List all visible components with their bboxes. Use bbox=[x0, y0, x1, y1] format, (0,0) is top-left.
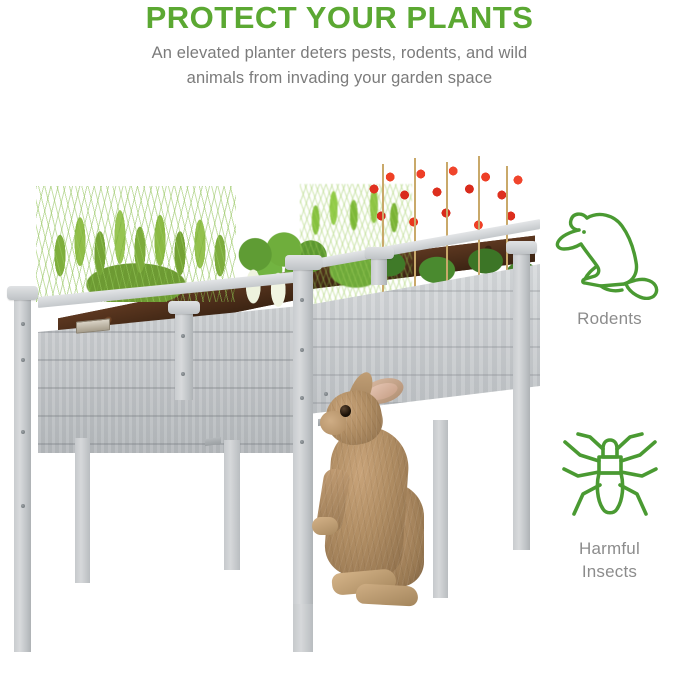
screw bbox=[21, 430, 25, 434]
subtitle-line-2: animals from invading your garden space bbox=[0, 66, 679, 91]
feature-label-rodents: Rodents bbox=[540, 307, 679, 330]
screw bbox=[21, 358, 25, 362]
corner-post bbox=[513, 250, 530, 550]
page-title: PROTECT YOUR PLANTS bbox=[0, 0, 679, 35]
post-cap bbox=[506, 241, 537, 254]
screw bbox=[300, 298, 304, 302]
garden-stake bbox=[446, 162, 448, 288]
garden-stake bbox=[414, 158, 416, 290]
post-cap bbox=[7, 286, 38, 300]
rabbit-paw bbox=[312, 517, 338, 535]
feature-label-insects-line-2: Insects bbox=[540, 560, 679, 583]
page-subtitle: An elevated planter deters pests, rodent… bbox=[0, 35, 679, 91]
insect-icon bbox=[558, 430, 662, 530]
corner-post bbox=[371, 255, 387, 285]
feature-rodents: Rodents bbox=[540, 208, 679, 330]
planter-leg bbox=[75, 438, 90, 583]
post-cap bbox=[168, 301, 200, 314]
planter-leg bbox=[224, 440, 240, 570]
feature-label-insects-line-1: Harmful bbox=[540, 537, 679, 560]
header-banner: PROTECT YOUR PLANTS An elevated planter … bbox=[0, 0, 679, 100]
screw bbox=[181, 334, 185, 338]
rodent-icon bbox=[554, 208, 666, 300]
pest-icon-column: Rodents bbox=[540, 100, 679, 695]
screw bbox=[21, 504, 25, 508]
post-cap bbox=[285, 255, 322, 270]
screw bbox=[300, 348, 304, 352]
corner-post bbox=[175, 310, 193, 400]
garden-stake bbox=[478, 156, 480, 284]
corner-post bbox=[14, 296, 31, 652]
post-cap bbox=[365, 247, 394, 259]
feature-insects: Harmful Insects bbox=[540, 430, 679, 583]
rabbit-eye bbox=[340, 405, 351, 417]
feature-label-insects: Harmful Insects bbox=[540, 537, 679, 583]
rabbit-illustration bbox=[300, 365, 470, 620]
product-scene bbox=[0, 100, 540, 695]
subtitle-line-1: An elevated planter deters pests, rodent… bbox=[0, 41, 679, 66]
screw bbox=[21, 322, 25, 326]
screw bbox=[181, 372, 185, 376]
rabbit-hind-foot bbox=[356, 583, 419, 606]
